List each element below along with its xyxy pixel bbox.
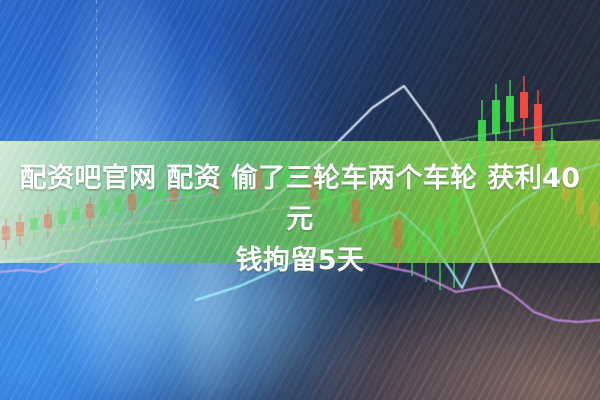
banner-image: 配资吧官网 配资 偷了三轮车两个车轮 获利40元钱拘留5天 [0,0,600,400]
headline-line-2: 钱拘留5天 [236,245,365,276]
candlestick-body [520,92,528,118]
candlestick-body [492,100,500,134]
headline-line-1: 配资吧官网 配资 偷了三轮车两个车轮 获利40元 [20,163,581,235]
headline-text: 配资吧官网 配资 偷了三轮车两个车轮 获利40元钱拘留5天 [0,158,600,281]
candlestick-body [506,96,514,122]
